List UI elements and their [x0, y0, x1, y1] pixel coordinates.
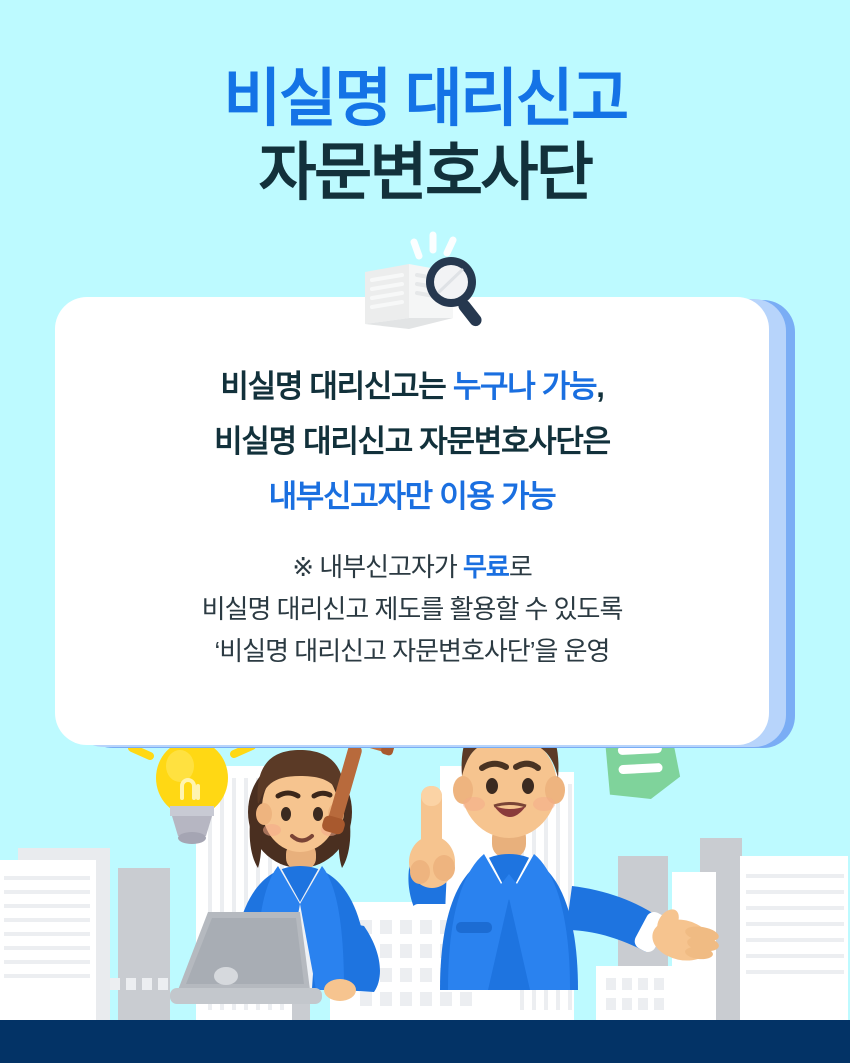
title-line-2: 자문변호사단 — [0, 136, 850, 210]
poster-root: 비실명 대리신고 자문변호사단 — [0, 0, 850, 1063]
bottom-bar — [0, 1020, 850, 1063]
book-magnifier-icon — [357, 230, 497, 330]
illustration-scene — [0, 730, 850, 1063]
lead-highlight-1: 누구나 가능 — [453, 369, 596, 404]
info-card: 비실명 대리신고는 누구나 가능, 비실명 대리신고 자문변호사단은 내부신고자… — [55, 297, 769, 745]
page-title: 비실명 대리신고 자문변호사단 — [0, 62, 850, 210]
note-text-b: 로 — [509, 552, 532, 582]
card-lead-line-1: 비실명 대리신고는 누구나 가능, — [85, 359, 739, 414]
card-lead-line-2: 비실명 대리신고 자문변호사단은 — [85, 414, 739, 469]
card-note-line-1: ※ 내부신고자가 무료로 — [85, 546, 739, 588]
card-note-line-2: 비실명 대리신고 제도를 활용할 수 있도록 — [85, 588, 739, 630]
lead-highlight-2: 내부신고자만 이용 가능 — [269, 479, 556, 514]
title-line-1: 비실명 대리신고 — [0, 62, 850, 136]
note-highlight: 무료 — [463, 552, 509, 582]
lead-text-b: , — [596, 369, 603, 404]
note-text-a: ※ 내부신고자가 — [292, 552, 463, 582]
card-lead-line-3: 내부신고자만 이용 가능 — [85, 469, 739, 524]
card-note-block: ※ 내부신고자가 무료로 비실명 대리신고 제도를 활용할 수 있도록 ‘비실명… — [85, 546, 739, 672]
illustration-props — [0, 730, 850, 1020]
card-note-line-3: ‘비실명 대리신고 자문변호사단’을 운영 — [85, 630, 739, 672]
lead-text-a: 비실명 대리신고는 — [220, 369, 452, 404]
